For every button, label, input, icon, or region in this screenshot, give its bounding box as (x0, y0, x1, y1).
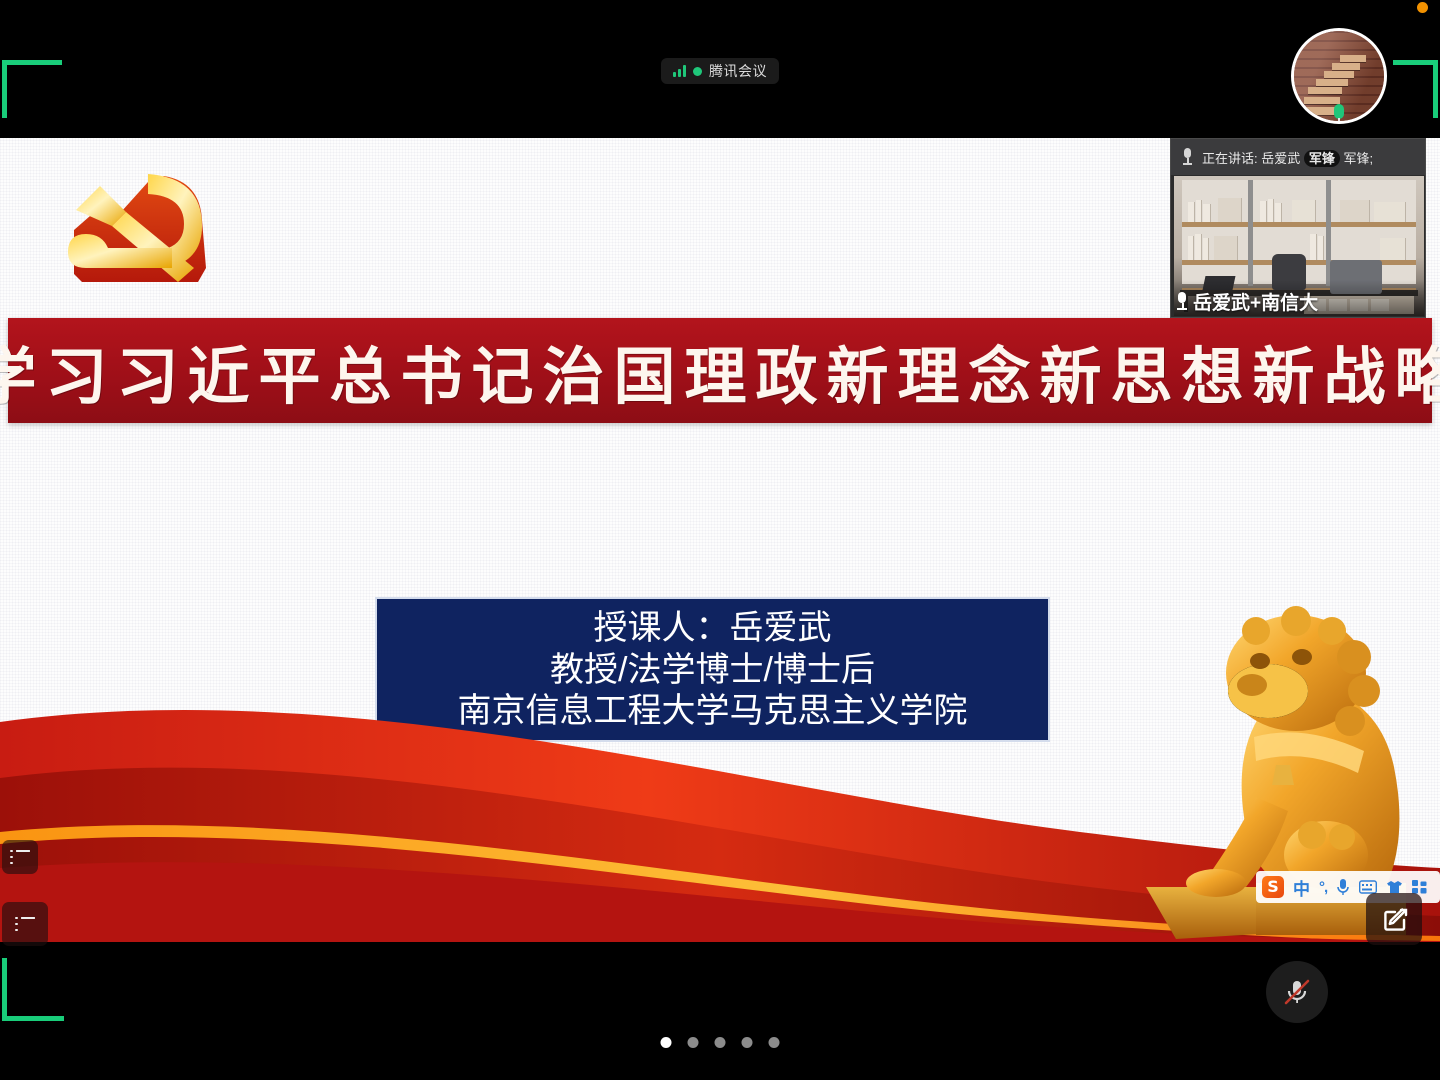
share-bracket-left-top (2, 60, 7, 118)
share-bracket-right-top (1433, 60, 1438, 118)
skin-icon[interactable] (1386, 880, 1403, 894)
microphone-icon (1175, 292, 1189, 311)
sogou-logo-icon[interactable]: S (1262, 876, 1284, 898)
page-dot-4[interactable] (742, 1037, 753, 1048)
microphone-muted-icon (1280, 975, 1314, 1009)
slide-title-band: 学习习近平总书记治国理政新理念新思想新战略 (8, 318, 1432, 423)
page-dot-5[interactable] (769, 1037, 780, 1048)
participant-video-tile[interactable]: 正在讲话: 岳爱武 军锋 军锋; (1170, 138, 1426, 318)
floating-avatar[interactable] (1291, 28, 1387, 124)
page-dot-3[interactable] (715, 1037, 726, 1048)
meeting-status-chip[interactable]: 腾讯会议 (661, 58, 779, 84)
microphone-icon (1181, 148, 1194, 166)
punctuation-toggle-icon[interactable]: °, (1319, 879, 1327, 896)
input-mode-icon[interactable]: 中 (1293, 875, 1310, 900)
speaking-status-text: 正在讲话: 岳爱武 军锋 军锋; (1202, 148, 1373, 167)
list-button-top[interactable] (2, 840, 38, 874)
list-icon (15, 917, 35, 932)
mute-button[interactable] (1266, 961, 1328, 1023)
share-bracket-top-left (2, 60, 62, 65)
connection-status-dot (693, 67, 702, 76)
avatar-microphone-icon (1330, 104, 1348, 124)
apps-grid-icon[interactable] (1412, 880, 1427, 894)
slide-title: 学习习近平总书记治国理政新理念新思想新战略 (0, 326, 1440, 416)
voice-input-icon[interactable] (1336, 878, 1350, 896)
signal-bars-icon (673, 65, 686, 77)
pencil-annotate-icon (1379, 904, 1409, 934)
speaker-line-1: 授课人：岳爱武 (594, 608, 832, 649)
recording-indicator-dot (1417, 2, 1428, 13)
participant-name-text: 岳爱武+南信大 (1193, 288, 1318, 315)
meeting-app-name: 腾讯会议 (709, 61, 767, 81)
share-bracket-left-bottom (2, 958, 7, 1021)
page-dot-1[interactable] (661, 1037, 672, 1048)
screen-root: 腾讯会议 (0, 0, 1440, 1080)
list-button-bottom[interactable] (2, 902, 48, 946)
pagination-dots[interactable] (661, 1037, 780, 1048)
speaking-status-bar: 正在讲话: 岳爱武 军锋 军锋; (1171, 139, 1426, 175)
annotate-button[interactable] (1366, 893, 1422, 945)
share-bracket-bottom-left (2, 1016, 64, 1021)
list-icon (10, 850, 30, 865)
soft-keyboard-icon[interactable] (1359, 880, 1377, 894)
share-bracket-top-right (1393, 60, 1438, 65)
cpc-party-emblem-icon (52, 156, 222, 301)
page-dot-2[interactable] (688, 1037, 699, 1048)
participant-name-label: 岳爱武+南信大 (1175, 288, 1318, 315)
